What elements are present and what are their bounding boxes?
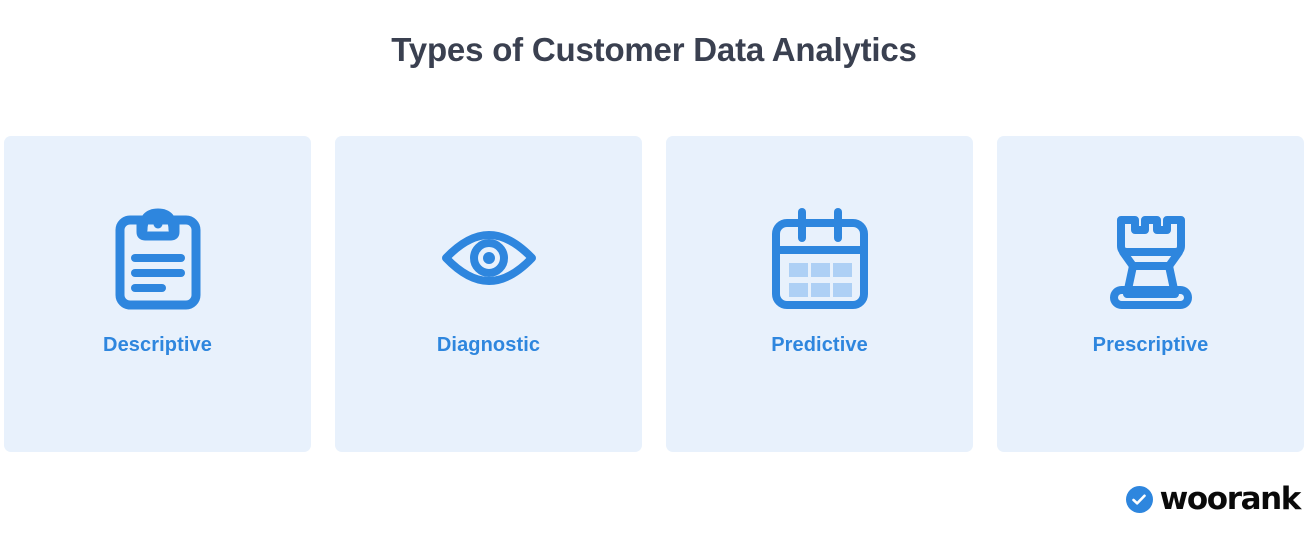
woorank-logo: woorank xyxy=(1126,484,1300,515)
analytics-card-diagnostic[interactable]: Diagnostic xyxy=(335,136,642,452)
analytics-card-label: Predictive xyxy=(771,334,868,357)
chess-rook-icon xyxy=(1095,204,1207,312)
analytics-card-predictive[interactable]: Predictive xyxy=(666,136,973,452)
eye-icon xyxy=(433,204,545,312)
analytics-type-card-list: Descriptive Diagnostic xyxy=(4,136,1304,452)
clipboard-icon xyxy=(102,204,214,312)
analytics-card-label: Descriptive xyxy=(103,334,212,357)
woorank-logo-text: woorank xyxy=(1160,484,1300,515)
analytics-card-prescriptive[interactable]: Prescriptive xyxy=(997,136,1304,452)
analytics-card-label: Diagnostic xyxy=(437,334,540,357)
page-title: Types of Customer Data Analytics xyxy=(0,30,1308,70)
calendar-icon xyxy=(764,204,876,312)
infographic-canvas: Types of Customer Data Analytics Descrip… xyxy=(0,0,1308,537)
analytics-card-descriptive[interactable]: Descriptive xyxy=(4,136,311,452)
analytics-card-label: Prescriptive xyxy=(1093,334,1209,357)
check-badge-icon xyxy=(1126,486,1153,513)
